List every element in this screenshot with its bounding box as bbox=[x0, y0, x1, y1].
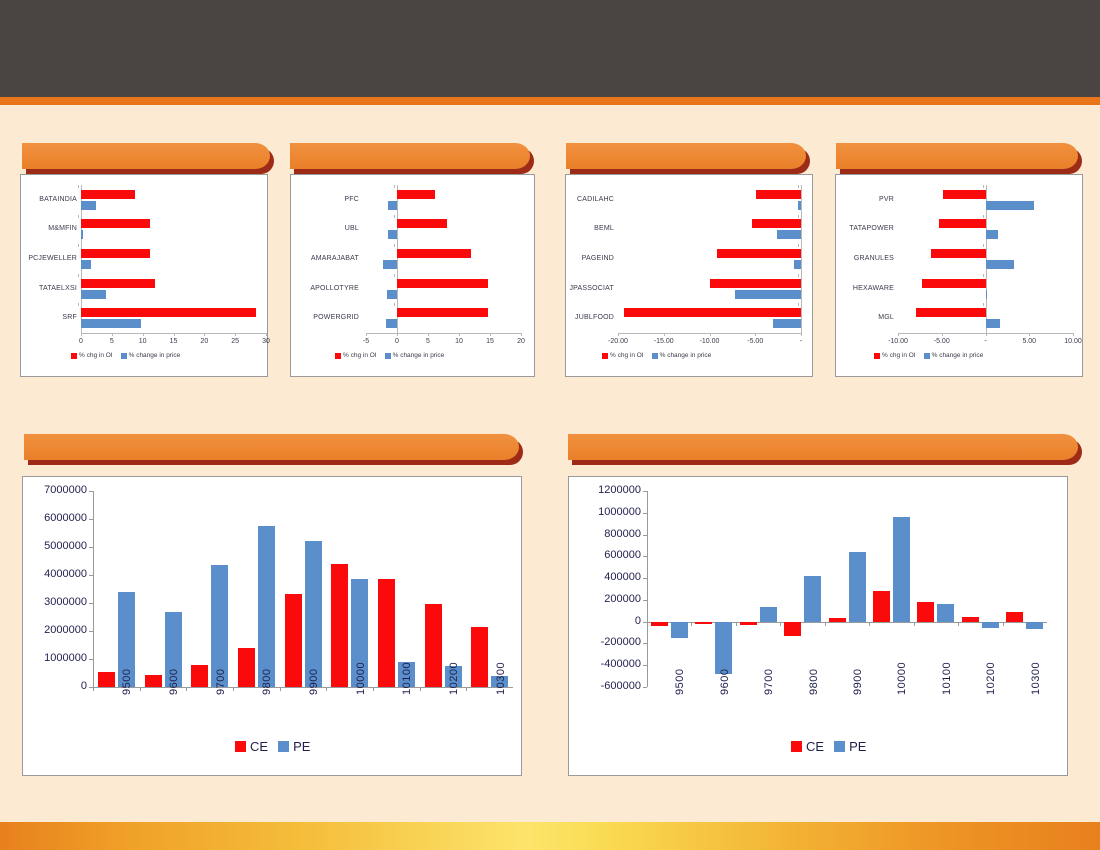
chart-panel-option-oi[interactable]: 0100000020000003000000400000050000006000… bbox=[22, 476, 522, 776]
bar-oi-change bbox=[397, 190, 435, 199]
ribbon-body bbox=[290, 143, 530, 169]
category-tick bbox=[186, 687, 187, 691]
bar-price-change bbox=[388, 201, 397, 210]
category-tick bbox=[394, 185, 395, 188]
bar-price-change bbox=[773, 319, 801, 328]
bar-pe bbox=[937, 604, 954, 622]
chart-panel-oi-losers-2[interactable]: PVRTATAPOWERGRANULESHEXAWAREMGL-10.00-5.… bbox=[835, 174, 1083, 377]
y-axis-tick-label: 6000000 bbox=[25, 512, 87, 524]
x-axis-tick-label: - bbox=[964, 338, 1008, 345]
x-axis-category-label: 9500 bbox=[674, 669, 686, 695]
bar-ce bbox=[98, 672, 115, 687]
legend-swatch-pe bbox=[834, 741, 845, 752]
bar-ce bbox=[331, 564, 348, 687]
legend-swatch-ce bbox=[235, 741, 246, 752]
bar-ce bbox=[425, 604, 442, 687]
category-label: JUBLFOOD bbox=[568, 314, 614, 321]
category-tick bbox=[983, 185, 984, 188]
legend-swatch-oi bbox=[71, 353, 77, 359]
legend-label-oi: % chg in OI bbox=[610, 352, 644, 359]
category-label: PAGEIND bbox=[568, 255, 614, 262]
legend-swatch-ce bbox=[791, 741, 802, 752]
bar-oi-change bbox=[756, 190, 801, 199]
category-tick bbox=[1003, 622, 1004, 626]
x-axis-tick-label: -20.00 bbox=[596, 338, 640, 345]
bar-ce bbox=[917, 602, 934, 622]
bar-oi-change bbox=[943, 190, 986, 199]
legend-item-pe: PE bbox=[834, 739, 866, 754]
bar-price-change bbox=[986, 230, 998, 239]
x-axis-category-label: 9500 bbox=[121, 669, 133, 695]
legend-label-ce: CE bbox=[250, 739, 268, 754]
bar-oi-change bbox=[939, 219, 985, 228]
legend-item-oi: % chg in OI bbox=[335, 352, 377, 359]
chart-legend: % chg in OI% change in price bbox=[71, 352, 180, 359]
category-label: UBL bbox=[297, 225, 359, 232]
category-tick bbox=[798, 244, 799, 247]
x-axis-tick-label: - bbox=[779, 338, 823, 345]
legend-label-pe: PE bbox=[293, 739, 310, 754]
category-tick bbox=[280, 687, 281, 691]
category-label: TATAELXSI bbox=[23, 285, 77, 292]
x-axis-tick bbox=[174, 333, 175, 336]
x-axis-tick-label: 5.00 bbox=[1007, 338, 1051, 345]
y-axis-tick-label: 400000 bbox=[573, 571, 641, 583]
bar-oi-change bbox=[81, 190, 135, 199]
y-axis-tick-label: 2000000 bbox=[25, 624, 87, 636]
bar-price-change bbox=[81, 319, 141, 328]
bar-oi-change bbox=[717, 249, 801, 258]
bar-ce bbox=[1006, 612, 1023, 622]
x-axis-tick-label: -5.00 bbox=[920, 338, 964, 345]
category-tick bbox=[78, 185, 79, 188]
category-label: APOLLOTYRE bbox=[297, 285, 359, 292]
y-axis-tick-label: 4000000 bbox=[25, 568, 87, 580]
bar-pe bbox=[804, 576, 821, 621]
chart-legend: % chg in OI% change in price bbox=[335, 352, 444, 359]
category-tick bbox=[983, 215, 984, 218]
footer-gradient-bar bbox=[0, 822, 1100, 850]
y-axis-tick-label: -400000 bbox=[573, 658, 641, 670]
legend-item-oi: % chg in OI bbox=[602, 352, 644, 359]
legend-label-oi: % chg in OI bbox=[343, 352, 377, 359]
category-tick bbox=[798, 274, 799, 277]
y-axis-tick-label: -200000 bbox=[573, 636, 641, 648]
bar-price-change bbox=[735, 290, 801, 299]
bar-price-change bbox=[986, 319, 1001, 328]
category-label: SRF bbox=[23, 314, 77, 321]
bar-oi-change bbox=[397, 249, 471, 258]
bar-ce bbox=[238, 648, 255, 687]
category-tick bbox=[983, 244, 984, 247]
panel-ribbon-oi-gainers-1 bbox=[22, 143, 270, 173]
bar-price-change bbox=[81, 230, 83, 239]
bar-oi-change bbox=[81, 308, 256, 317]
y-axis-line bbox=[93, 491, 94, 687]
bar-price-change bbox=[386, 319, 397, 328]
x-axis-category-label: 9800 bbox=[261, 669, 273, 695]
y-axis-tick bbox=[643, 687, 647, 688]
category-label: MGL bbox=[838, 314, 894, 321]
x-axis-tick-label: -10.00 bbox=[688, 338, 732, 345]
legend-item-price: % change in price bbox=[121, 352, 181, 359]
x-axis-tick bbox=[755, 333, 756, 336]
x-axis-tick bbox=[801, 333, 802, 336]
bar-oi-change bbox=[397, 219, 447, 228]
bar-pe bbox=[760, 607, 777, 622]
x-axis-tick-label: 10.00 bbox=[1051, 338, 1095, 345]
bar-oi-change bbox=[922, 279, 986, 288]
y-axis-tick-label: 5000000 bbox=[25, 540, 87, 552]
x-axis-category-label: 9700 bbox=[763, 669, 775, 695]
category-tick bbox=[78, 215, 79, 218]
category-tick bbox=[983, 303, 984, 306]
category-tick bbox=[326, 687, 327, 691]
x-axis-category-label: 10000 bbox=[355, 662, 367, 695]
chart-panel-oi-losers-1[interactable]: CADILAHCBEMLPAGEINDJPASSOCIATJUBLFOOD-20… bbox=[565, 174, 813, 377]
category-tick bbox=[691, 622, 692, 626]
bar-price-change bbox=[388, 230, 397, 239]
legend-swatch-price bbox=[652, 353, 658, 359]
bar-price-change bbox=[81, 260, 91, 269]
bar-price-change bbox=[383, 260, 397, 269]
y-axis-tick-label: 7000000 bbox=[25, 484, 87, 496]
x-axis-category-label: 10000 bbox=[896, 662, 908, 695]
category-tick bbox=[394, 303, 395, 306]
bar-ce bbox=[873, 591, 890, 622]
legend-label-price: % change in price bbox=[660, 352, 712, 359]
bar-oi-change bbox=[81, 249, 150, 258]
x-axis-tick bbox=[143, 333, 144, 336]
bar-price-change bbox=[986, 290, 988, 299]
category-tick bbox=[394, 274, 395, 277]
category-tick bbox=[798, 215, 799, 218]
category-label: HEXAWARE bbox=[838, 285, 894, 292]
bar-oi-change bbox=[397, 279, 488, 288]
x-axis-tick-label: -15.00 bbox=[642, 338, 686, 345]
x-axis-tick bbox=[942, 333, 943, 336]
x-axis-tick-label: 30 bbox=[244, 338, 288, 345]
category-tick bbox=[78, 274, 79, 277]
x-axis-category-label: 10300 bbox=[495, 662, 507, 695]
bar-ce bbox=[829, 618, 846, 621]
panel-ribbon-option-oi bbox=[24, 434, 519, 464]
category-label: BEML bbox=[568, 225, 614, 232]
ribbon-body bbox=[568, 434, 1078, 460]
category-tick bbox=[373, 687, 374, 691]
x-axis-tick bbox=[397, 333, 398, 336]
category-tick bbox=[983, 274, 984, 277]
legend-label-oi: % chg in OI bbox=[882, 352, 916, 359]
legend-swatch-price bbox=[385, 353, 391, 359]
ribbon-body bbox=[836, 143, 1078, 169]
x-axis-category-label: 10100 bbox=[941, 662, 953, 695]
y-axis-tick-label: 1000000 bbox=[25, 652, 87, 664]
y-axis-tick-label: 0 bbox=[25, 680, 87, 692]
bar-oi-change bbox=[710, 279, 802, 288]
header-accent-stripe bbox=[0, 97, 1100, 105]
bar-ce bbox=[145, 675, 162, 687]
bar-price-change bbox=[986, 260, 1015, 269]
y-axis-tick-label: 1200000 bbox=[573, 484, 641, 496]
bar-ce bbox=[191, 665, 208, 687]
category-tick bbox=[780, 622, 781, 626]
legend-swatch-oi bbox=[602, 353, 608, 359]
bar-ce bbox=[962, 617, 979, 621]
bar-price-change bbox=[81, 290, 106, 299]
bar-pe bbox=[893, 517, 910, 622]
x-axis-category-label: 9700 bbox=[215, 669, 227, 695]
category-label: PCJEWELLER bbox=[23, 255, 77, 262]
legend-item-price: % change in price bbox=[924, 352, 984, 359]
legend-swatch-oi bbox=[335, 353, 341, 359]
panel-ribbon-oi-gainers-2 bbox=[290, 143, 530, 173]
category-tick bbox=[233, 687, 234, 691]
x-axis-category-label: 9800 bbox=[808, 669, 820, 695]
legend-item-pe: PE bbox=[278, 739, 310, 754]
legend-item-ce: CE bbox=[791, 739, 824, 754]
category-tick bbox=[869, 622, 870, 626]
bar-oi-change bbox=[916, 308, 985, 317]
x-axis-category-label: 10200 bbox=[985, 662, 997, 695]
legend-label-price: % change in price bbox=[129, 352, 181, 359]
bar-oi-change bbox=[81, 279, 155, 288]
bar-oi-change bbox=[81, 219, 150, 228]
y-axis-tick-label: 200000 bbox=[573, 593, 641, 605]
legend-item-price: % change in price bbox=[385, 352, 445, 359]
bar-price-change bbox=[798, 201, 801, 210]
bar-oi-change bbox=[624, 308, 801, 317]
category-tick bbox=[958, 622, 959, 626]
x-axis-tick bbox=[1029, 333, 1030, 336]
panel-ribbon-oi-losers-2 bbox=[836, 143, 1078, 173]
y-axis-tick-label: 3000000 bbox=[25, 596, 87, 608]
x-axis-tick-label: -5.00 bbox=[733, 338, 777, 345]
x-axis-tick bbox=[204, 333, 205, 336]
category-tick bbox=[466, 687, 467, 691]
category-tick bbox=[394, 244, 395, 247]
y-axis-tick-label: -600000 bbox=[573, 680, 641, 692]
bar-pe bbox=[1026, 622, 1043, 629]
bar-price-change bbox=[794, 260, 801, 269]
bar-price-change bbox=[777, 230, 801, 239]
ribbon-body bbox=[22, 143, 270, 169]
legend-swatch-pe bbox=[278, 741, 289, 752]
bar-pe bbox=[715, 622, 732, 674]
x-axis-tick bbox=[366, 333, 367, 336]
bar-ce bbox=[378, 579, 395, 687]
bar-ce bbox=[285, 594, 302, 687]
x-axis-category-label: 10300 bbox=[1030, 662, 1042, 695]
category-tick bbox=[736, 622, 737, 626]
x-axis-category-label: 9600 bbox=[168, 669, 180, 695]
bar-pe bbox=[258, 526, 275, 687]
panel-ribbon-oi-losers-1 bbox=[566, 143, 806, 173]
bar-price-change bbox=[387, 290, 397, 299]
x-axis-tick bbox=[898, 333, 899, 336]
category-label: GRANULES bbox=[838, 255, 894, 262]
legend-label-pe: PE bbox=[849, 739, 866, 754]
chart-panel-option-oi-change[interactable]: -600000-400000-2000000200000400000600000… bbox=[568, 476, 1068, 776]
x-axis-category-label: 9900 bbox=[852, 669, 864, 695]
chart-legend: % chg in OI% change in price bbox=[602, 352, 711, 359]
bar-pe bbox=[849, 552, 866, 622]
category-tick bbox=[798, 185, 799, 188]
legend-item-oi: % chg in OI bbox=[71, 352, 113, 359]
x-axis-tick bbox=[81, 333, 82, 336]
y-axis-tick-label: 800000 bbox=[573, 528, 641, 540]
category-tick bbox=[140, 687, 141, 691]
legend-item-ce: CE bbox=[235, 739, 268, 754]
category-tick bbox=[93, 687, 94, 691]
value-axis-line bbox=[801, 185, 802, 333]
legend-item-oi: % chg in OI bbox=[874, 352, 916, 359]
x-axis-tick-label: -10.00 bbox=[876, 338, 920, 345]
category-tick bbox=[420, 687, 421, 691]
x-axis-tick bbox=[459, 333, 460, 336]
x-axis-tick bbox=[235, 333, 236, 336]
legend-item-price: % change in price bbox=[652, 352, 712, 359]
bar-pe bbox=[671, 622, 688, 638]
bar-ce bbox=[651, 622, 668, 626]
category-label: PFC bbox=[297, 196, 359, 203]
x-axis-tick bbox=[710, 333, 711, 336]
y-axis-line bbox=[647, 491, 648, 687]
y-axis-tick-label: 0 bbox=[573, 615, 641, 627]
bar-ce bbox=[471, 627, 488, 687]
bar-pe bbox=[982, 622, 999, 629]
category-tick bbox=[647, 622, 648, 626]
legend-swatch-price bbox=[121, 353, 127, 359]
x-axis-category-label: 9600 bbox=[719, 669, 731, 695]
bar-ce bbox=[784, 622, 801, 636]
legend-label-price: % change in price bbox=[932, 352, 984, 359]
bar-ce bbox=[740, 622, 757, 626]
x-axis-category-label: 9900 bbox=[308, 669, 320, 695]
page-header-bar bbox=[0, 0, 1100, 97]
category-label: BATAINDIA bbox=[23, 196, 77, 203]
bar-price-change bbox=[986, 201, 1034, 210]
y-axis-tick-label: 600000 bbox=[573, 549, 641, 561]
y-axis-tick-label: 1000000 bbox=[573, 506, 641, 518]
chart-legend: % chg in OI% change in price bbox=[874, 352, 983, 359]
x-axis-tick bbox=[521, 333, 522, 336]
bar-pe bbox=[305, 541, 322, 687]
panel-ribbon-option-oi-change bbox=[568, 434, 1078, 464]
legend-swatch-price bbox=[924, 353, 930, 359]
x-axis-line bbox=[366, 333, 521, 334]
category-tick bbox=[798, 303, 799, 306]
x-axis-tick bbox=[112, 333, 113, 336]
bar-oi-change bbox=[397, 308, 488, 317]
category-label: CADILAHC bbox=[568, 196, 614, 203]
bar-ce bbox=[695, 622, 712, 625]
legend-label-price: % change in price bbox=[393, 352, 445, 359]
ribbon-body bbox=[24, 434, 519, 460]
category-label: PVR bbox=[838, 196, 894, 203]
x-axis-category-label: 10200 bbox=[448, 662, 460, 695]
ribbon-body bbox=[566, 143, 806, 169]
category-label: POWERGRID bbox=[297, 314, 359, 321]
x-axis-tick bbox=[428, 333, 429, 336]
x-axis-tick bbox=[1073, 333, 1074, 336]
category-tick bbox=[825, 622, 826, 626]
bar-oi-change bbox=[752, 219, 801, 228]
chart-panel-oi-gainers-1[interactable]: BATAINDIAM&MFINPCJEWELLERTATAELXSISRF051… bbox=[20, 174, 268, 377]
x-axis-tick bbox=[266, 333, 267, 336]
category-label: TATAPOWER bbox=[838, 225, 894, 232]
category-tick bbox=[78, 303, 79, 306]
x-axis-tick bbox=[490, 333, 491, 336]
bar-price-change bbox=[81, 201, 96, 210]
x-axis-category-label: 10100 bbox=[401, 662, 413, 695]
chart-legend: CEPE bbox=[235, 739, 310, 754]
category-tick bbox=[394, 215, 395, 218]
legend-label-ce: CE bbox=[806, 739, 824, 754]
x-axis-tick-label: 20 bbox=[499, 338, 543, 345]
legend-label-oi: % chg in OI bbox=[79, 352, 113, 359]
category-label: JPASSOCIAT bbox=[568, 285, 614, 292]
category-tick bbox=[914, 622, 915, 626]
x-axis-tick bbox=[618, 333, 619, 336]
category-label: M&MFIN bbox=[23, 225, 77, 232]
category-label: AMARAJABAT bbox=[297, 255, 359, 262]
x-axis-tick bbox=[986, 333, 987, 336]
legend-swatch-oi bbox=[874, 353, 880, 359]
x-axis-tick bbox=[664, 333, 665, 336]
category-tick bbox=[78, 244, 79, 247]
bar-oi-change bbox=[931, 249, 985, 258]
chart-legend: CEPE bbox=[791, 739, 866, 754]
chart-panel-oi-gainers-2[interactable]: PFCUBLAMARAJABATAPOLLOTYREPOWERGRID-5051… bbox=[290, 174, 535, 377]
